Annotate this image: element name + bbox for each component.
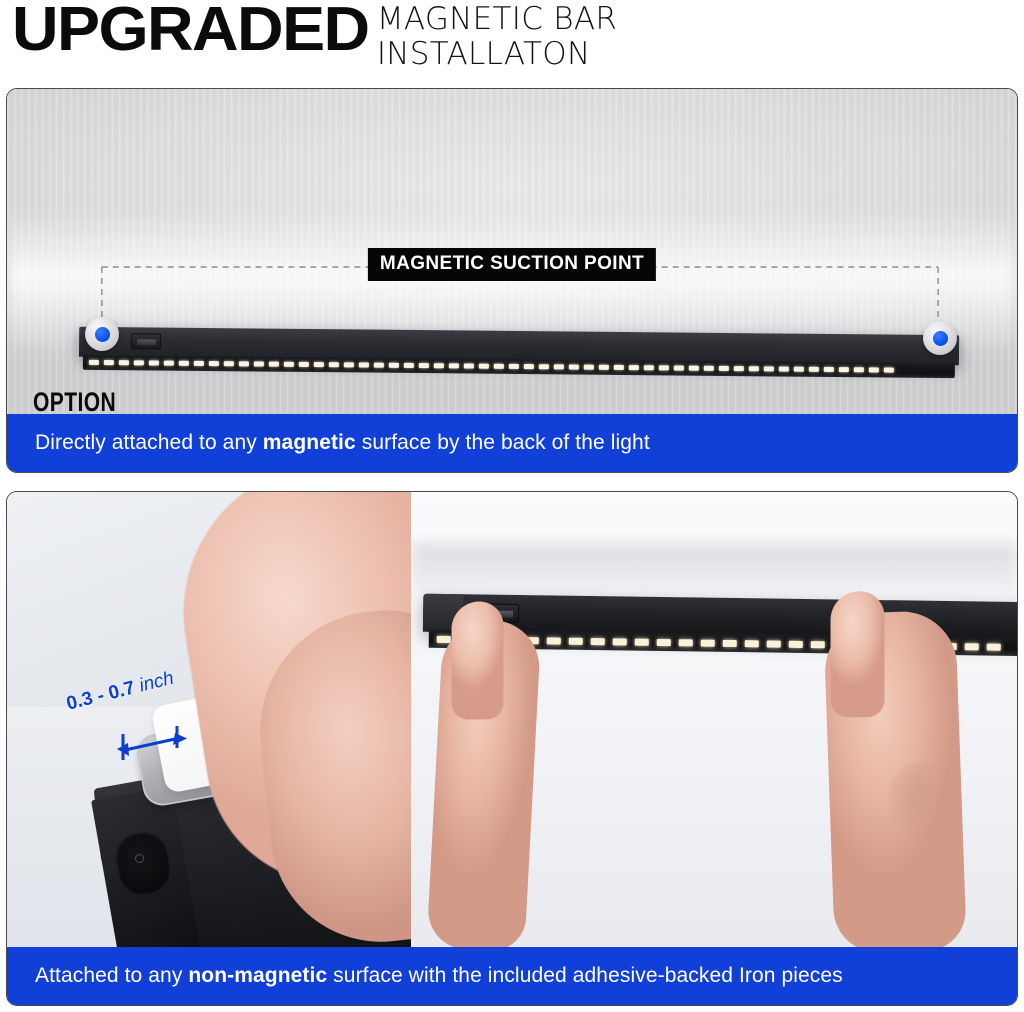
wall-mount-photo xyxy=(411,492,1017,947)
option-01-caption-text: Directly attached to any magnetic surfac… xyxy=(35,431,650,455)
led-diode xyxy=(679,639,693,646)
led-diode xyxy=(719,366,729,371)
caption-01-prefix: Directly attached to any xyxy=(35,431,263,454)
led-diode xyxy=(674,365,684,370)
option-01-photo: MAGNETIC SUCTION POINT OPTION 01 xyxy=(7,89,1017,414)
led-diode xyxy=(134,360,144,365)
led-diode xyxy=(657,638,671,645)
page-header: UPGRADED MAGNETIC BAR INSTALLATON xyxy=(0,0,1024,84)
led-diode xyxy=(547,637,561,644)
led-diode xyxy=(811,641,825,648)
led-diode xyxy=(869,367,879,372)
option-02-caption-text: Attached to any non-magnetic surface wit… xyxy=(35,964,843,988)
dimension-arrow-icon xyxy=(25,688,235,798)
option-02-photo-row: 0.3 - 0.7 inch xyxy=(7,492,1017,947)
led-diode xyxy=(464,363,474,368)
led-diode xyxy=(745,640,759,647)
led-diode xyxy=(629,365,639,370)
note-callout-card: NOTE: The magnetic points are on both si… xyxy=(45,1005,390,1006)
led-diode xyxy=(254,361,264,366)
led-diode xyxy=(779,366,789,371)
led-diode xyxy=(659,365,669,370)
led-diode xyxy=(599,365,609,370)
led-diode xyxy=(524,364,534,369)
led-diode xyxy=(884,368,894,373)
led-diode xyxy=(509,364,519,369)
led-diode xyxy=(89,360,99,365)
option-01-caption-bar: Directly attached to any magnetic surfac… xyxy=(7,414,1017,472)
option-01-badge-word: OPTION xyxy=(33,389,116,416)
led-diode xyxy=(569,637,583,644)
page-title: UPGRADED xyxy=(12,0,369,62)
led-diode xyxy=(224,361,234,366)
led-diode xyxy=(434,363,444,368)
led-diode xyxy=(329,362,339,367)
led-diode xyxy=(437,635,451,642)
led-diode xyxy=(299,362,309,367)
led-diode xyxy=(614,365,624,370)
led-diode xyxy=(613,638,627,645)
led-diode xyxy=(269,362,279,367)
led-diode xyxy=(749,366,759,371)
thumb-left xyxy=(452,601,504,719)
led-diode xyxy=(194,361,204,366)
led-diode xyxy=(794,367,804,372)
led-diode xyxy=(404,363,414,368)
hand-left xyxy=(426,618,541,947)
caption-02-suffix: surface with the included adhesive-backe… xyxy=(327,964,843,987)
led-light-bar xyxy=(79,327,959,379)
led-diode xyxy=(987,643,1001,650)
caption-02-prefix: Attached to any xyxy=(35,964,188,987)
led-diode xyxy=(591,638,605,645)
option-02-caption-bar: Attached to any non-magnetic surface wit… xyxy=(7,947,1017,1005)
led-diode xyxy=(119,360,129,365)
led-diode xyxy=(839,367,849,372)
led-diode xyxy=(344,362,354,367)
led-diode xyxy=(965,643,979,650)
led-diode xyxy=(554,364,564,369)
led-diode xyxy=(494,364,504,369)
led-diode xyxy=(584,365,594,370)
subtitle-line-2: INSTALLATON xyxy=(377,37,617,72)
led-diode xyxy=(449,363,459,368)
led-diode xyxy=(284,362,294,367)
magnet-recess-dot-icon xyxy=(135,854,144,863)
page-subtitle: MAGNETIC BAR INSTALLATON xyxy=(377,2,617,72)
led-diode xyxy=(209,361,219,366)
led-diode xyxy=(569,364,579,369)
led-diode xyxy=(479,364,489,369)
thumb-right xyxy=(831,591,885,717)
led-diode xyxy=(539,364,549,369)
option-02-panel: 0.3 - 0.7 inch xyxy=(6,491,1018,1006)
iron-piece-closeup-photo: 0.3 - 0.7 inch xyxy=(7,492,411,947)
led-diode xyxy=(239,361,249,366)
led-diode xyxy=(635,638,649,645)
led-diode xyxy=(389,363,399,368)
caption-02-bold: non-magnetic xyxy=(188,964,327,987)
led-diode xyxy=(764,366,774,371)
led-diode xyxy=(809,367,819,372)
led-diode xyxy=(824,367,834,372)
dimension-annotation: 0.3 - 0.7 inch xyxy=(25,688,235,798)
led-diode xyxy=(644,365,654,370)
led-diode xyxy=(419,363,429,368)
led-diode xyxy=(149,360,159,365)
led-diode xyxy=(689,366,699,371)
led-diode xyxy=(314,362,324,367)
led-diode xyxy=(701,639,715,646)
led-diode xyxy=(704,366,714,371)
knuckle-shading xyxy=(886,760,953,844)
led-diode xyxy=(734,366,744,371)
led-diode xyxy=(359,362,369,367)
magnet-point-right-icon xyxy=(923,321,957,355)
led-diode xyxy=(104,360,114,365)
led-diode xyxy=(179,361,189,366)
led-diode xyxy=(789,640,803,647)
magnet-point-left-icon xyxy=(85,317,119,351)
subtitle-line-1: MAGNETIC BAR xyxy=(377,2,617,37)
led-diode xyxy=(723,639,737,646)
led-diode xyxy=(164,361,174,366)
caption-01-bold: magnetic xyxy=(263,431,356,454)
magnetic-suction-point-label: MAGNETIC SUCTION POINT xyxy=(368,248,656,281)
hand-right xyxy=(823,610,967,947)
led-diode xyxy=(374,363,384,368)
caption-01-suffix: surface by the back of the light xyxy=(356,431,650,454)
option-01-panel: MAGNETIC SUCTION POINT OPTION 01 Directl… xyxy=(6,88,1018,473)
led-diode xyxy=(854,367,864,372)
power-switch-icon xyxy=(131,333,161,349)
led-diode xyxy=(767,640,781,647)
